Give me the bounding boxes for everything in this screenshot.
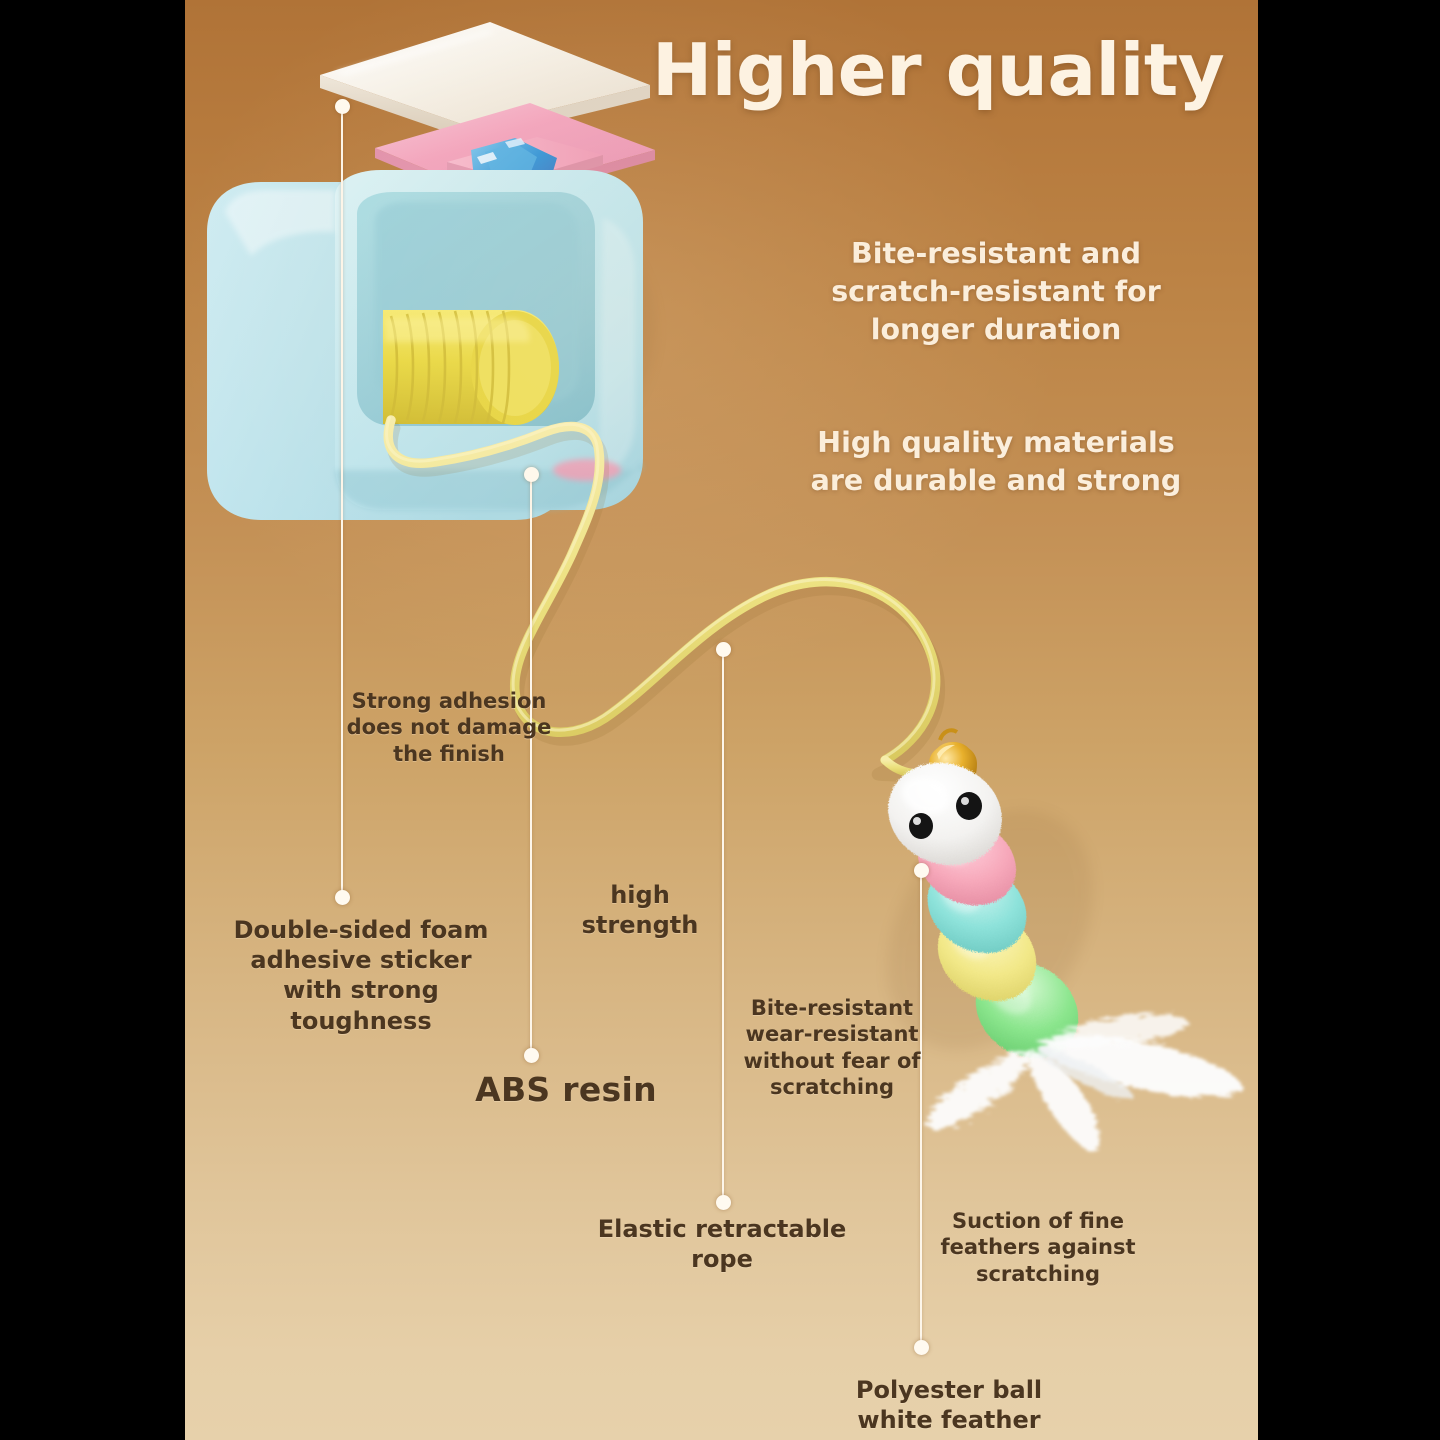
content-panel: Higher quality Bite-resistant and scratc… — [185, 0, 1258, 1440]
leader-line-adhesive-pad — [341, 112, 343, 898]
callout-bite-wear-resistant: Bite-resistant wear-resistant without fe… — [733, 995, 931, 1101]
leader-line-housing — [530, 480, 532, 1056]
leader-dot-rope-bottom — [716, 1195, 731, 1210]
callout-elastic-rope: Elastic retractable rope — [597, 1214, 847, 1274]
callout-high-strength: high strength — [559, 880, 721, 940]
callout-suction-feathers: Suction of fine feathers against scratch… — [940, 1208, 1136, 1287]
leader-dot-housing-bottom — [524, 1048, 539, 1063]
leader-dot-housing-top — [524, 467, 539, 482]
leader-dot-polyester-ball-bottom — [914, 1340, 929, 1355]
page-title: Higher quality — [652, 34, 1224, 106]
callout-double-sided-foam: Double-sided foam adhesive sticker with … — [225, 915, 497, 1036]
feature-high-quality-materials: High quality materials are durable and s… — [793, 424, 1199, 500]
leader-dot-polyester-ball-top — [914, 863, 929, 878]
callout-strong-adhesion: Strong adhesion does not damage the fini… — [343, 688, 555, 767]
leader-dot-adhesive-pad-bottom — [335, 890, 350, 905]
infographic-canvas: Higher quality Bite-resistant and scratc… — [0, 0, 1440, 1440]
leader-line-polyester-ball — [920, 876, 922, 1348]
feature-bite-resistant: Bite-resistant and scratch-resistant for… — [809, 235, 1183, 349]
callout-abs-resin: ABS resin — [441, 1069, 691, 1111]
leader-line-rope — [722, 655, 724, 1203]
leader-dot-adhesive-pad-top — [335, 99, 350, 114]
leader-dot-rope-top — [716, 642, 731, 657]
callout-polyester-ball: Polyester ball white feather — [815, 1375, 1083, 1435]
